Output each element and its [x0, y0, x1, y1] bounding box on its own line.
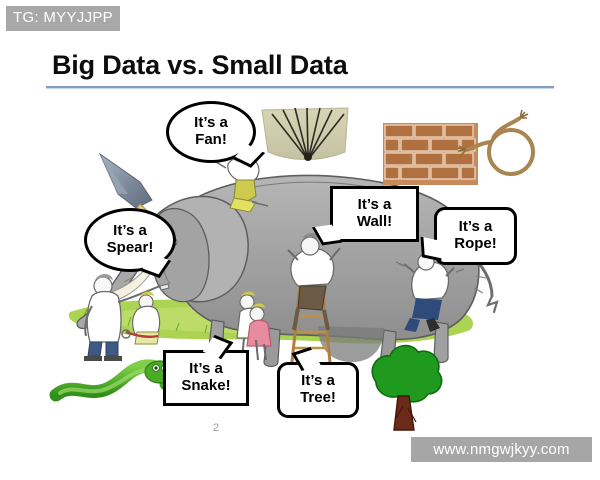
speech-bubble-tree-line2: Tree! — [300, 390, 336, 407]
speech-bubble-rope: It’s a Rope! — [434, 207, 517, 265]
speech-bubble-fan-line2: Fan! — [194, 132, 228, 149]
speech-bubble-rope-line2: Rope! — [454, 236, 497, 253]
tree-object — [372, 346, 441, 430]
speech-bubble-spear-line1: It’s a — [107, 223, 154, 240]
speech-bubble-tree-line1: It’s a — [300, 373, 336, 390]
speech-bubble-spear-line2: Spear! — [107, 240, 154, 257]
speech-bubble-fan-line1: It’s a — [194, 115, 228, 132]
speech-bubble-snake: It’s a Snake! — [163, 350, 249, 406]
speech-bubble-wall-line2: Wall! — [357, 214, 392, 231]
speech-bubble-snake-line1: It’s a — [181, 361, 230, 378]
speech-bubble-wall-line1: It’s a — [357, 197, 392, 214]
speech-bubble-wall: It’s a Wall! — [330, 186, 419, 242]
title-underline-rule — [46, 86, 554, 88]
brick-wall-object — [383, 123, 478, 185]
tg-badge: TG: MYYJJPP — [6, 6, 120, 31]
slide-canvas: TG: MYYJJPP Big Data vs. Small Data — [0, 0, 600, 480]
speech-bubble-snake-line2: Snake! — [181, 378, 230, 395]
page-number: 2 — [213, 422, 219, 434]
speech-bubble-rope-line1: It’s a — [454, 219, 497, 236]
fan-object — [262, 90, 348, 161]
speech-bubble-tree: It’s a Tree! — [277, 362, 359, 418]
bubble-tail-rope — [420, 237, 441, 262]
page-title: Big Data vs. Small Data — [52, 50, 348, 81]
watermark-url: www.nmgwjkyy.com — [411, 437, 592, 462]
